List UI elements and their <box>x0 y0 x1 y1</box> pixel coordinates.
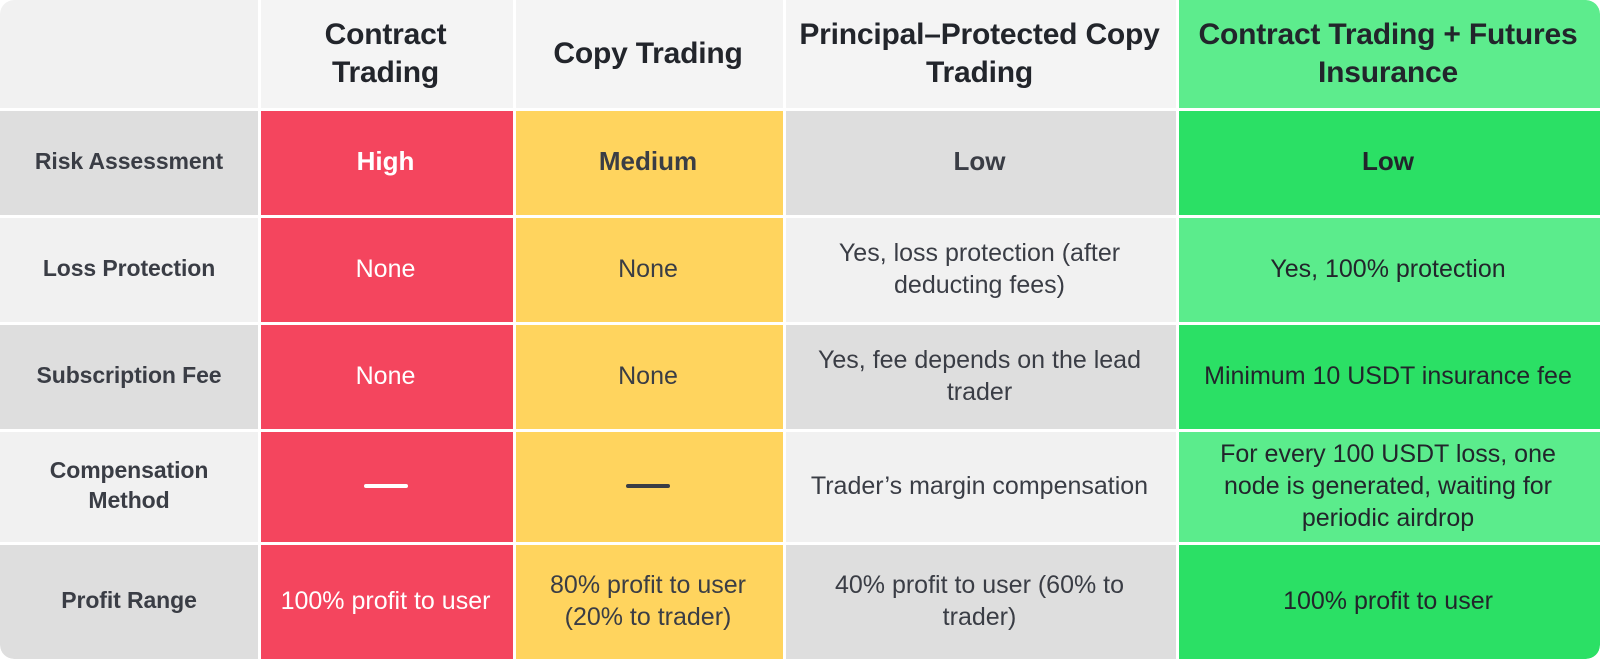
cell-loss-protection-futures-insurance: Yes, 100% protection <box>1176 215 1600 322</box>
cell-compensation-method-copy-trading <box>513 429 783 542</box>
cell-risk-assessment-contract-trading: High <box>258 108 513 215</box>
cell-profit-range-futures-insurance: 100% profit to user <box>1176 542 1600 659</box>
cell-loss-protection-contract-trading: None <box>258 215 513 322</box>
column-header-copy-trading: Copy Trading <box>513 0 783 108</box>
cell-subscription-fee-copy-trading: None <box>513 322 783 429</box>
cell-profit-range-contract-trading: 100% profit to user <box>258 542 513 659</box>
cell-subscription-fee-principal-protected: Yes, fee depends on the lead trader <box>783 322 1176 429</box>
row-label-loss-protection: Loss Protection <box>0 215 258 322</box>
cell-loss-protection-copy-trading: None <box>513 215 783 322</box>
cell-compensation-method-principal-protected: Trader’s margin compensation <box>783 429 1176 542</box>
cell-loss-protection-principal-protected: Yes, loss protection (after deducting fe… <box>783 215 1176 322</box>
row-label-subscription-fee: Subscription Fee <box>0 322 258 429</box>
column-header-contract-trading-futures-insurance: Contract Trading + Futures Insurance <box>1176 0 1600 108</box>
row-label-risk-assessment: Risk Assessment <box>0 108 258 215</box>
cell-compensation-method-contract-trading <box>258 429 513 542</box>
comparison-table: Contract Trading Copy Trading Principal–… <box>0 0 1600 659</box>
column-header-contract-trading: Contract Trading <box>258 0 513 108</box>
empty-dash-icon <box>626 484 670 488</box>
column-header-principal-protected-copy-trading: Principal–Protected Copy Trading <box>783 0 1176 108</box>
cell-risk-assessment-futures-insurance: Low <box>1176 108 1600 215</box>
cell-risk-assessment-principal-protected: Low <box>783 108 1176 215</box>
comparison-grid: Contract Trading Copy Trading Principal–… <box>0 0 1600 659</box>
cell-profit-range-copy-trading: 80% profit to user (20% to trader) <box>513 542 783 659</box>
cell-subscription-fee-contract-trading: None <box>258 322 513 429</box>
cell-compensation-method-futures-insurance: For every 100 USDT loss, one node is gen… <box>1176 429 1600 542</box>
cell-profit-range-principal-protected: 40% profit to user (60% to trader) <box>783 542 1176 659</box>
cell-subscription-fee-futures-insurance: Minimum 10 USDT insurance fee <box>1176 322 1600 429</box>
row-label-compensation-method: Compensation Method <box>0 429 258 542</box>
empty-dash-icon <box>364 484 408 488</box>
header-corner-blank <box>0 0 258 108</box>
cell-risk-assessment-copy-trading: Medium <box>513 108 783 215</box>
row-label-profit-range: Profit Range <box>0 542 258 659</box>
